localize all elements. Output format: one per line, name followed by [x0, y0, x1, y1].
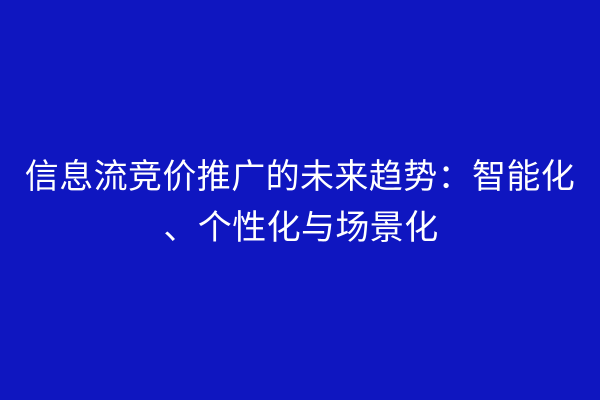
title-card: 信息流竞价推广的未来趋势：智能化 、个性化与场景化	[0, 0, 600, 400]
title-line-2: 、个性化与场景化	[18, 203, 582, 254]
title-line-1: 信息流竞价推广的未来趋势：智能化	[18, 152, 582, 203]
title-text-block: 信息流竞价推广的未来趋势：智能化 、个性化与场景化	[0, 152, 600, 254]
